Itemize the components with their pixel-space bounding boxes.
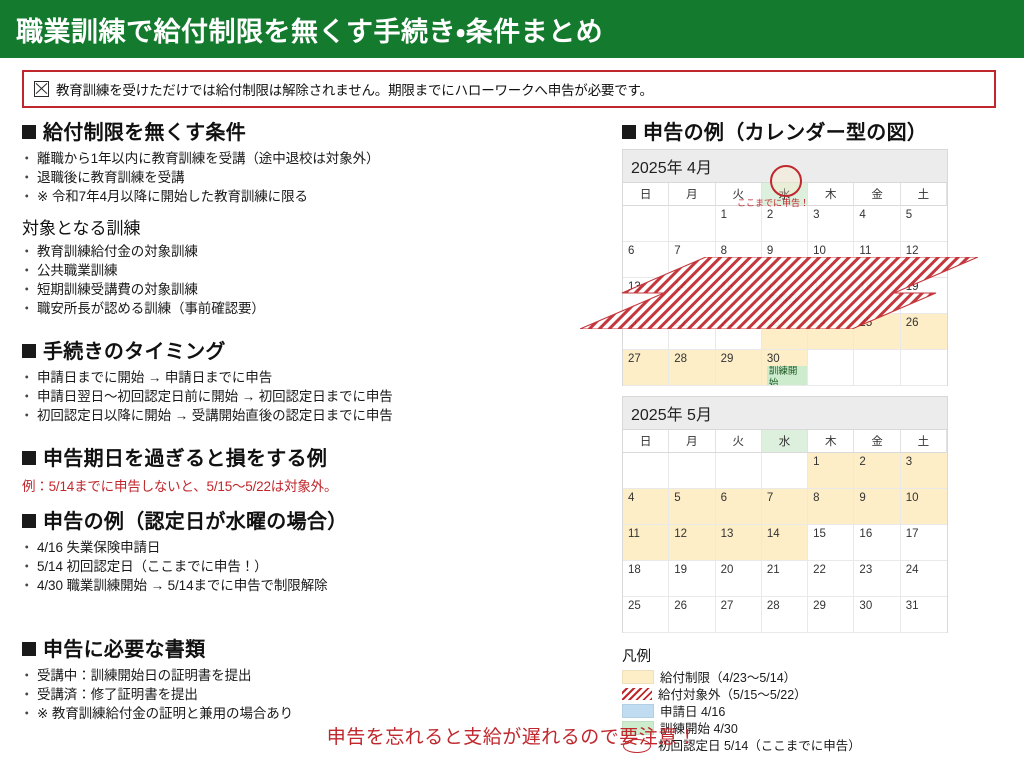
calendar-day-cell[interactable]: 12 [669,525,715,561]
list-item: 5/14 初回認定日（ここまでに申告！） [22,557,612,576]
square-bullet-icon [22,514,36,528]
day-number: 27 [721,600,734,612]
heading-text-timing: 手続きのタイミング [43,341,226,363]
header-banner: 職業訓練で給付制限を無くす手続き・条件まとめ [0,0,1024,58]
calendar-day-cell[interactable]: 11 [623,525,669,561]
legend-swatch-hatchsw-icon [622,688,652,700]
day-number: 10 [813,245,826,257]
day-number: 12 [906,245,919,257]
calendar-day-cell[interactable]: 4 [623,489,669,525]
alert-text: 教育訓練を受けただけでは給付制限は解除されません。期限までにハローワークへ申告が… [56,79,653,99]
calendar-day-cell[interactable]: 31 [901,597,947,633]
day-number: 25 [628,600,641,612]
day-number: 2 [767,209,773,221]
day-number: 3 [906,456,912,468]
footer-warning: 申告を忘れると支給が遅れるので要注意！ [0,722,1024,749]
calendar-day-cell[interactable]: 6 [716,489,762,525]
calendar-empty-cell [854,350,900,386]
day-of-week-header: 木 [808,183,854,206]
day-number: 23 [859,564,872,576]
list-item: 職安所長が認める訓練（事前確認要） [22,299,612,318]
calendar-day-cell[interactable]: 22 [716,314,762,350]
day-number: 2 [859,456,865,468]
calendar-day-cell[interactable]: 19 [901,278,947,314]
day-number: 9 [767,245,773,257]
list-item: 離職から1年以内に教育訓練を受講（途中退校は対象外） [22,149,612,168]
day-number: 9 [859,492,865,504]
day-number: 19 [906,281,919,293]
calendar-empty-cell [623,206,669,242]
heading-text-documents: 申告に必要な書類 [43,639,205,661]
calendar-day-cell[interactable]: 23 [762,314,808,350]
calendar-day-cell[interactable]: 5 [669,489,715,525]
calendar-day-cell[interactable]: 16 [854,525,900,561]
calendar-day-cell[interactable]: 29 [808,597,854,633]
legend-row: 給付対象外（5/15〜5/22） [622,685,1002,702]
square-bullet-icon [622,125,636,139]
day-number: 1 [813,456,819,468]
calendar-day-cell[interactable]: 11 [854,242,900,278]
calendar-day-cell[interactable]: 3 [901,453,947,489]
day-number: 28 [674,353,687,365]
calendar-day-cell[interactable]: 18 [854,278,900,314]
list-documents: 受講中：訓練開始日の証明書を提出 受講済：修了証明書を提出 ※ 教育訓練給付金の… [22,666,612,723]
calendar-grid: 日月火水木金土123456789101112131415161718192021… [623,430,947,633]
calendar-day-cell[interactable]: 15 [716,278,762,314]
calendar-empty-cell [762,453,808,489]
day-number: 30 [859,600,872,612]
list-item: 公共職業訓練 [22,261,612,280]
day-number: 16 [859,528,872,540]
alert-banner: 教育訓練を受けただけでは給付制限は解除されません。期限までにハローワークへ申告が… [22,70,996,108]
day-number: 19 [674,564,687,576]
day-number: 17 [813,281,826,293]
calendar-day-cell[interactable]: 1 [808,453,854,489]
day-number: 21 [674,317,687,329]
day-of-week-header: 金 [854,430,900,453]
day-number: 4 [628,492,634,504]
day-number: 7 [767,492,773,504]
calendar-day-cell[interactable]: 30 [854,597,900,633]
day-number: 22 [813,564,826,576]
heading-text-late-penalty: 申告期日を過ぎると損をする例 [43,448,327,470]
calendar-day-cell[interactable]: 15 [808,525,854,561]
legend-swatch-blue-icon [622,704,654,718]
day-number: 13 [721,528,734,540]
day-number: 22 [721,317,734,329]
calendar-day-cell[interactable]: 30訓練開始 [762,350,808,386]
calendar-day-cell[interactable]: 10 [808,242,854,278]
day-number: 20 [628,317,641,329]
square-bullet-icon [22,642,36,656]
legend-swatch-cream-icon [622,670,654,684]
day-number: 26 [674,600,687,612]
day-of-week-header: 水 [762,430,808,453]
calendar-empty-cell [808,350,854,386]
day-of-week-header: 火 [716,430,762,453]
calendar-empty-cell [669,453,715,489]
calendar-day-cell[interactable]: 7 [762,489,808,525]
day-number: 27 [628,353,641,365]
list-item: ※ 令和7年4月以降に開始した教育訓練に限る [22,187,612,206]
calendar-day-cell[interactable]: 23 [854,561,900,597]
day-number: 18 [859,281,872,293]
day-number: 18 [628,564,641,576]
section-heading-calendar: 申告の例（カレンダー型の図） [622,116,1002,145]
day-number: 8 [721,245,727,257]
list-item: 初回認定日以降に開始 → 受講開始直後の認定日までに申告 [22,406,612,425]
sub-heading-target-training: 対象となる訓練 [22,214,612,239]
list-target-training: 教育訓練給付金の対象訓練 公共職業訓練 短期訓練受講費の対象訓練 職安所長が認め… [22,242,612,318]
section-heading-timing: 手続きのタイミング [22,335,612,364]
day-number: 14 [767,528,780,540]
calendar-day-cell[interactable]: 17 [808,278,854,314]
calendar-day-cell[interactable]: 17 [901,525,947,561]
day-number: 23 [767,317,780,329]
day-of-week-header: 土 [901,183,947,206]
calendar-day-cell[interactable]: 19 [669,561,715,597]
calendar-day-cell[interactable]: 24 [808,314,854,350]
square-bullet-icon [22,344,36,358]
heading-text-calendar: 申告の例（カレンダー型の図） [643,122,927,144]
day-number: 11 [859,245,871,257]
day-of-week-header: 月 [669,183,715,206]
warning-box-icon [34,81,49,97]
day-number: 17 [906,528,919,540]
calendar-day-cell[interactable]: 7 [669,242,715,278]
day-number: 15 [813,528,826,540]
legend-row: 給付制限（4/23〜5/14） [622,668,1002,685]
list-item: 申請日までに開始 → 申請日までに申告 [22,368,612,387]
day-number: 10 [906,492,919,504]
day-number: 6 [628,245,634,257]
list-item: 短期訓練受講費の対象訓練 [22,280,612,299]
list-timing: 申請日までに開始 → 申請日までに申告 申請日翌日〜初回認定日前に開始 → 初回… [22,368,612,425]
calendar-day-cell[interactable]: 2 [854,453,900,489]
day-number: 6 [721,492,727,504]
calendar-day-cell[interactable]: 13 [716,525,762,561]
list-item: 申請日翌日〜初回認定日前に開始 → 初回認定日までに申告 [22,387,612,406]
calendar-day-cell[interactable]: 21 [669,314,715,350]
calendar-title: 2025年 5月 [623,397,947,430]
day-of-week-header: 日 [623,430,669,453]
calendar-day-cell[interactable]: 14 [762,525,808,561]
day-number: 24 [813,317,826,329]
day-number: 3 [813,209,819,221]
section-heading-late-penalty: 申告期日を過ぎると損をする例 [22,442,612,471]
day-number: 5 [674,492,680,504]
calendar-day-cell[interactable]: 9 [854,489,900,525]
calendar-day-cell[interactable]: 21 [762,561,808,597]
calendar-day-cell[interactable]: 18 [623,561,669,597]
calendar-day-cell[interactable]: 25 [854,314,900,350]
list-item: ※ 教育訓練給付金の証明と兼用の場合あり [22,704,612,723]
calendar-day-cell[interactable]: 25 [623,597,669,633]
calendar-day-cell[interactable]: 13 [623,278,669,314]
legend-title: 凡例 [622,645,1002,666]
day-number: 20 [721,564,734,576]
calendar-day-cell[interactable]: 24 [901,561,947,597]
calendar-day-cell[interactable]: 12 [901,242,947,278]
calendar-day-cell[interactable]: 16申請日 [762,278,808,314]
list-item: 教育訓練給付金の対象訓練 [22,242,612,261]
calendar-day-cell[interactable]: 27 [716,597,762,633]
square-bullet-icon [22,451,36,465]
calendar-day-cell[interactable]: 1 [716,206,762,242]
calendar-day-cell[interactable]: 3 [808,206,854,242]
late-penalty-warning: 例：5/14までに申告しないと、5/15〜5/22は対象外。 [22,475,612,495]
day-number: 29 [813,600,826,612]
calendar-day-cell[interactable]: 28 [669,350,715,386]
calendar-empty-cell [623,453,669,489]
day-number: 28 [767,600,780,612]
day-number: 26 [906,317,919,329]
calendar-day-cell[interactable]: 5 [901,206,947,242]
day-number: 11 [628,528,640,540]
section-heading-conditions: 給付制限を無くす条件 [22,116,612,145]
day-number: 30 [767,353,780,365]
legend-row: 申請日 4/16 [622,702,1002,719]
calendar-day-cell[interactable]: 14 [669,278,715,314]
day-number: 13 [628,281,641,293]
right-column: 申告の例（カレンダー型の図） 2025年 4月日月火水木金土1234567891… [622,116,1002,753]
day-number: 12 [674,528,687,540]
list-item: 受講中：訓練開始日の証明書を提出 [22,666,612,685]
day-tag-start: 訓練開始 [767,366,807,386]
calendar-day-cell[interactable]: 22 [808,561,854,597]
day-of-week-header: 日 [623,183,669,206]
calendar-day-cell[interactable]: 20 [623,314,669,350]
page-title: 職業訓練で給付制限を無くす手続き・条件まとめ [16,10,603,49]
calendar-empty-cell [901,350,947,386]
day-number: 1 [721,209,727,221]
calendar-day-cell[interactable]: 27 [623,350,669,386]
calendar-day-cell[interactable]: 2 [762,206,808,242]
list-item: 4/30 職業訓練開始 → 5/14までに申告で制限解除 [22,576,612,595]
list-example: 4/16 失業保険申請日 5/14 初回認定日（ここまでに申告！） 4/30 職… [22,538,612,595]
calendar-day-cell[interactable]: 8 [808,489,854,525]
day-number: 15 [721,281,734,293]
calendar-may: 2025年 5月日月火水木金土1234567891011121314151617… [622,396,948,633]
circle-note-label: ここまでに申告！ [737,196,809,209]
day-number: 4 [859,209,865,221]
heading-text-example: 申告の例（認定日が水曜の場合） [43,511,348,533]
calendar-day-cell[interactable]: 9 [762,242,808,278]
calendar-day-cell[interactable]: 10 [901,489,947,525]
day-number: 31 [906,600,919,612]
calendar-day-cell[interactable]: 28 [762,597,808,633]
list-item: 退職後に教育訓練を受講 [22,168,612,187]
square-bullet-icon [22,125,36,139]
day-number: 24 [906,564,919,576]
day-number: 5 [906,209,912,221]
calendar-day-cell[interactable]: 4 [854,206,900,242]
day-of-week-header: 月 [669,430,715,453]
section-heading-example: 申告の例（認定日が水曜の場合） [22,505,612,534]
calendar-day-cell[interactable]: 26 [669,597,715,633]
day-number: 8 [813,492,819,504]
calendar-grid: 日月火水木金土12345678910111213141516申請日1718192… [623,183,947,386]
day-of-week-header: 金 [854,183,900,206]
calendar-empty-cell [669,206,715,242]
list-item: 受講済：修了証明書を提出 [22,685,612,704]
calendar-day-cell[interactable]: 6 [623,242,669,278]
day-number: 14 [674,281,687,293]
section-heading-documents: 申告に必要な書類 [22,633,612,662]
day-of-week-header: 木 [808,430,854,453]
calendar-day-cell[interactable]: 29 [716,350,762,386]
calendar-day-cell[interactable]: 26 [901,314,947,350]
calendar-day-cell[interactable]: 8 [716,242,762,278]
day-number: 21 [767,564,780,576]
day-number: 25 [859,317,872,329]
day-number: 16 [767,281,780,293]
list-item: 4/16 失業保険申請日 [22,538,612,557]
left-column: 給付制限を無くす条件 離職から1年以内に教育訓練を受講（途中退校は対象外） 退職… [22,116,612,731]
heading-text-conditions: 給付制限を無くす条件 [43,122,246,144]
day-tag-apply: 申請日 [767,294,800,306]
calendar-day-cell[interactable]: 20 [716,561,762,597]
day-number: 29 [721,353,734,365]
calendar-area: 2025年 4月日月火水木金土12345678910111213141516申請… [622,149,1002,633]
calendar-empty-cell [716,453,762,489]
list-conditions: 離職から1年以内に教育訓練を受講（途中退校は対象外） 退職後に教育訓練を受講 ※… [22,149,612,206]
day-of-week-header: 土 [901,430,947,453]
day-number: 7 [674,245,680,257]
first-certification-circle-marker [770,165,802,197]
